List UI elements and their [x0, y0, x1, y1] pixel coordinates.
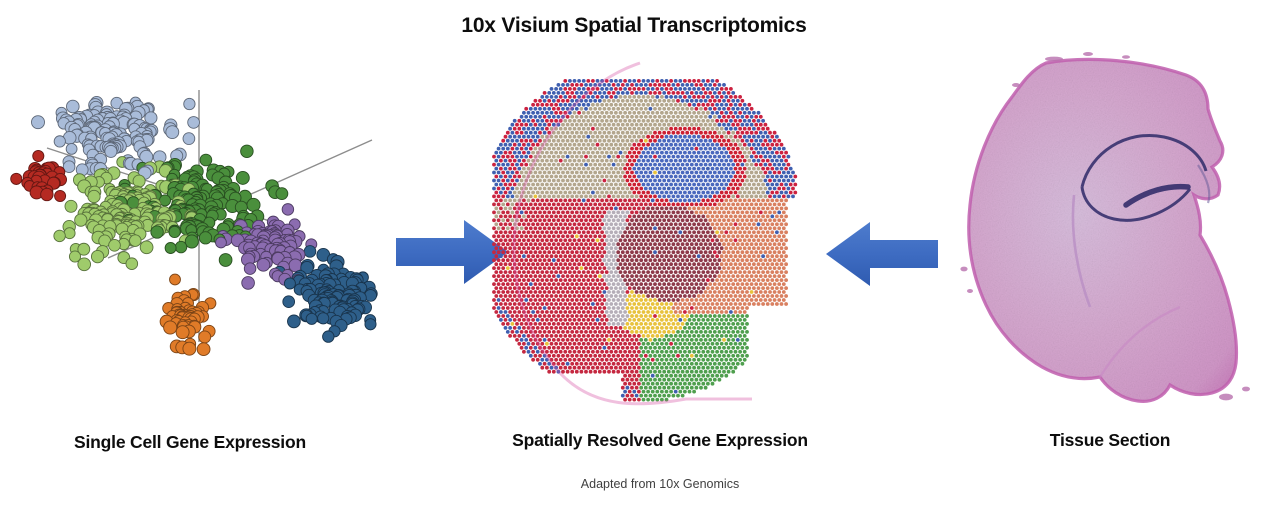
visium-spot [741, 338, 745, 342]
visium-spot [612, 218, 616, 222]
visium-spot [614, 366, 618, 370]
visium-spot [747, 111, 751, 115]
visium-spot [543, 242, 547, 246]
visium-spot [550, 95, 554, 99]
visium-spot [609, 302, 613, 306]
visium-spot [600, 143, 604, 147]
visium-spot [649, 314, 653, 318]
visium-spot [589, 83, 593, 87]
visium-spot [660, 294, 664, 298]
visium-spot [646, 350, 650, 354]
visium-spot [550, 254, 554, 258]
visium-spot [612, 266, 616, 270]
visium-spot [538, 163, 542, 167]
visium-spot [757, 215, 761, 219]
visium-spot [580, 314, 584, 318]
scatter-point [66, 143, 77, 154]
visium-spot [662, 234, 666, 238]
visium-spot [609, 350, 613, 354]
visium-spot [711, 111, 715, 115]
visium-spot [662, 155, 666, 159]
visium-spot [598, 203, 602, 207]
visium-spot [747, 278, 751, 282]
visium-spot [584, 171, 588, 175]
visium-spot [773, 139, 777, 143]
visium-spot [660, 207, 664, 211]
visium-spot [554, 191, 558, 195]
visium-spot [499, 183, 503, 187]
visium-spot [603, 187, 607, 191]
visium-spot [637, 286, 641, 290]
visium-spot [524, 115, 528, 119]
visium-spot [566, 147, 570, 151]
visium-spot [582, 310, 586, 314]
visium-spot [612, 211, 616, 215]
visium-spot [586, 159, 590, 163]
visium-spot [777, 203, 781, 207]
visium-spot [536, 175, 540, 179]
visium-spot [591, 222, 595, 226]
visium-spot [745, 346, 749, 350]
visium-spot [752, 127, 756, 131]
visium-spot [759, 131, 763, 135]
visium-spot [706, 278, 710, 282]
visium-spot [593, 115, 597, 119]
visium-spot [651, 326, 655, 330]
visium-spot [711, 302, 715, 306]
visium-spot [628, 222, 632, 226]
visium-spot [570, 91, 574, 95]
visium-spot [520, 163, 524, 167]
visium-spot [586, 143, 590, 147]
visium-spot [635, 290, 639, 294]
visium-spot [667, 362, 671, 366]
visium-spot [704, 362, 708, 366]
visium-spot [690, 282, 694, 286]
visium-spot [628, 262, 632, 266]
visium-spot [497, 298, 501, 302]
visium-spot [540, 334, 544, 338]
visium-spot [570, 234, 574, 238]
visium-spot [699, 99, 703, 103]
visium-spot [683, 262, 687, 266]
visium-spot [754, 115, 758, 119]
visium-spot [619, 183, 623, 187]
visium-spot [536, 270, 540, 274]
visium-spot [683, 183, 687, 187]
visium-spot [695, 274, 699, 278]
visium-spot [674, 326, 678, 330]
visium-spot [536, 215, 540, 219]
visium-spot [685, 346, 689, 350]
visium-spot [557, 362, 561, 366]
visium-spot [734, 222, 738, 226]
visium-spot [573, 238, 577, 242]
visium-spot [720, 95, 724, 99]
visium-spot [612, 131, 616, 135]
visium-spot [695, 330, 699, 334]
visium-spot [573, 222, 577, 226]
visium-spot [745, 218, 749, 222]
visium-spot [754, 211, 758, 215]
visium-spot [603, 91, 607, 95]
visium-spot [688, 151, 692, 155]
visium-spot [773, 234, 777, 238]
visium-spot [559, 191, 563, 195]
visium-spot [494, 183, 498, 187]
visium-spot [570, 362, 574, 366]
visium-spot [637, 350, 641, 354]
visium-spot [743, 151, 747, 155]
visium-spot [672, 123, 676, 127]
visium-spot [731, 250, 735, 254]
visium-spot [626, 330, 630, 334]
visium-spot [667, 155, 671, 159]
visium-spot [745, 282, 749, 286]
visium-spot [506, 322, 510, 326]
visium-spot [667, 330, 671, 334]
visium-spot [600, 207, 604, 211]
spot-grid-group [492, 63, 797, 404]
visium-spot [697, 222, 701, 226]
visium-spot [573, 278, 577, 282]
visium-spot [784, 238, 788, 242]
visium-spot [678, 294, 682, 298]
visium-spot [492, 218, 496, 222]
visium-spot [637, 278, 641, 282]
visium-spot [609, 215, 613, 219]
visium-spot [736, 195, 740, 199]
visium-spot [715, 310, 719, 314]
visium-spot [651, 79, 655, 83]
visium-spot [752, 246, 756, 250]
visium-spot [699, 155, 703, 159]
visium-spot [536, 254, 540, 258]
visium-spot [761, 135, 765, 139]
visium-spot [529, 147, 533, 151]
visium-spot [644, 203, 648, 207]
visium-spot [766, 175, 770, 179]
visium-spot [745, 242, 749, 246]
visium-spot [513, 326, 517, 330]
visium-spot [591, 230, 595, 234]
visium-spot [568, 183, 572, 187]
visium-spot [672, 195, 676, 199]
visium-spot [609, 358, 613, 362]
visium-spot [552, 99, 556, 103]
visium-spot [736, 155, 740, 159]
visium-spot [511, 330, 515, 334]
visium-spot [761, 230, 765, 234]
visium-spot [531, 127, 535, 131]
visium-spot [775, 135, 779, 139]
visium-spot [598, 322, 602, 326]
visium-spot [690, 171, 694, 175]
visium-spot [561, 290, 565, 294]
visium-spot [543, 91, 547, 95]
visium-spot [559, 310, 563, 314]
visium-spot [639, 346, 643, 350]
visium-spot [644, 274, 648, 278]
visium-spot [605, 286, 609, 290]
visium-spot [600, 366, 604, 370]
visium-spot [570, 131, 574, 135]
visium-spot [662, 338, 666, 342]
visium-spot [616, 163, 620, 167]
visium-spot [734, 334, 738, 338]
visium-spot [711, 310, 715, 314]
visium-spot [651, 167, 655, 171]
visium-spot [736, 163, 740, 167]
visium-spot [504, 270, 508, 274]
visium-spot [688, 119, 692, 123]
visium-spot [699, 290, 703, 294]
visium-spot [563, 95, 567, 99]
visium-spot [573, 294, 577, 298]
visium-spot [770, 207, 774, 211]
visium-spot [734, 111, 738, 115]
visium-spot [534, 282, 538, 286]
visium-spot [752, 159, 756, 163]
visium-spot [628, 159, 632, 163]
visium-spot [660, 87, 664, 91]
visium-spot [768, 163, 772, 167]
visium-spot [593, 338, 597, 342]
visium-spot [557, 266, 561, 270]
visium-spot [520, 115, 524, 119]
visium-spot [655, 318, 659, 322]
visium-spot [708, 242, 712, 246]
visium-spot [697, 238, 701, 242]
visium-spot [720, 191, 724, 195]
visium-spot [609, 191, 613, 195]
visium-spot [520, 338, 524, 342]
visium-spot [685, 234, 689, 238]
visium-spot [752, 222, 756, 226]
visium-spot [536, 103, 540, 107]
visium-spot [591, 262, 595, 266]
visium-spot [573, 246, 577, 250]
visium-spot [649, 362, 653, 366]
visium-spot [506, 155, 510, 159]
visium-spot [570, 211, 574, 215]
visium-spot [609, 119, 613, 123]
visium-spot [626, 203, 630, 207]
visium-spot [724, 286, 728, 290]
visium-spot [665, 222, 669, 226]
visium-spot [559, 111, 563, 115]
visium-spot [591, 326, 595, 330]
visium-spot [504, 175, 508, 179]
visium-spot [718, 218, 722, 222]
visium-spot [517, 175, 521, 179]
visium-spot [729, 159, 733, 163]
visium-spot [580, 91, 584, 95]
visium-spot [508, 167, 512, 171]
visium-spot [651, 222, 655, 226]
visium-spot [607, 107, 611, 111]
visium-spot [713, 282, 717, 286]
visium-spot [715, 270, 719, 274]
visium-spot [630, 171, 634, 175]
visium-spot [598, 91, 602, 95]
visium-spot [734, 95, 738, 99]
visium-spot [665, 167, 669, 171]
visium-spot [575, 266, 579, 270]
visium-spot [612, 322, 616, 326]
visium-spot [540, 159, 544, 163]
visium-spot [715, 127, 719, 131]
visium-spot [736, 322, 740, 326]
scatter-point [176, 326, 189, 339]
visium-spot [635, 242, 639, 246]
visium-spot [575, 163, 579, 167]
visium-spot [754, 147, 758, 151]
visium-spot [609, 238, 613, 242]
visium-spot [508, 159, 512, 163]
visium-spot [568, 230, 572, 234]
visium-spot [540, 278, 544, 282]
visium-spot [690, 354, 694, 358]
visium-spot [662, 218, 666, 222]
visium-spot [676, 211, 680, 215]
visium-spot [727, 107, 731, 111]
visium-spot [793, 183, 797, 187]
visium-spot [734, 326, 738, 330]
visium-spot [782, 171, 786, 175]
visium-spot [517, 135, 521, 139]
visium-spot [706, 254, 710, 258]
visium-spot [754, 203, 758, 207]
visium-spot [646, 366, 650, 370]
visium-spot [557, 282, 561, 286]
visium-spot [662, 115, 666, 119]
visium-spot [718, 250, 722, 254]
visium-spot [513, 175, 517, 179]
visium-spot [626, 155, 630, 159]
visium-spot [672, 163, 676, 167]
visium-spot [759, 282, 763, 286]
visium-spot [688, 246, 692, 250]
visium-spot [667, 131, 671, 135]
visium-spot [632, 230, 636, 234]
visium-spot [508, 270, 512, 274]
visium-spot [662, 242, 666, 246]
visium-spot [534, 258, 538, 262]
visium-spot [704, 298, 708, 302]
visium-spot [619, 334, 623, 338]
visium-spot [563, 151, 567, 155]
visium-spot [517, 230, 521, 234]
visium-spot [713, 234, 717, 238]
visium-spot [520, 218, 524, 222]
visium-spot [708, 322, 712, 326]
visium-spot [669, 207, 673, 211]
visium-spot [580, 139, 584, 143]
visium-spot [538, 171, 542, 175]
visium-spot [529, 123, 533, 127]
visium-spot [658, 322, 662, 326]
visium-spot [547, 187, 551, 191]
visium-spot [492, 179, 496, 183]
visium-spot [545, 318, 549, 322]
visium-spot [718, 266, 722, 270]
visium-spot [598, 155, 602, 159]
visium-spot [639, 187, 643, 191]
visium-spot [545, 222, 549, 226]
visium-spot [750, 211, 754, 215]
visium-spot [619, 358, 623, 362]
visium-spot [591, 135, 595, 139]
visium-spot [660, 230, 664, 234]
visium-spot [557, 115, 561, 119]
visium-spot [642, 95, 646, 99]
visium-spot [607, 203, 611, 207]
visium-spot [566, 195, 570, 199]
visium-spot [573, 183, 577, 187]
visium-spot [736, 354, 740, 358]
visium-spot [561, 322, 565, 326]
visium-spot [506, 242, 510, 246]
visium-spot [718, 187, 722, 191]
visium-spot [619, 302, 623, 306]
visium-spot [701, 358, 705, 362]
visium-spot [563, 230, 567, 234]
visium-spot [589, 282, 593, 286]
visium-spot [612, 115, 616, 119]
visium-spot [508, 183, 512, 187]
visium-spot [692, 310, 696, 314]
visium-spot [676, 147, 680, 151]
visium-spot [563, 318, 567, 322]
visium-spot [582, 119, 586, 123]
visium-spot [727, 203, 731, 207]
visium-spot [566, 242, 570, 246]
visium-spot [506, 250, 510, 254]
visium-spot [787, 187, 791, 191]
visium-spot [568, 215, 572, 219]
visium-spot [697, 103, 701, 107]
visium-spot [759, 187, 763, 191]
visium-spot [782, 274, 786, 278]
visium-spot [524, 282, 528, 286]
visium-spot [570, 179, 574, 183]
visium-spot [662, 282, 666, 286]
visium-spot [757, 302, 761, 306]
visium-spot [644, 163, 648, 167]
visium-spot [534, 211, 538, 215]
visium-spot [630, 91, 634, 95]
visium-spot [655, 111, 659, 115]
visium-spot [515, 250, 519, 254]
visium-spot [667, 298, 671, 302]
visium-spot [642, 183, 646, 187]
visium-spot [623, 127, 627, 131]
visium-spot [743, 254, 747, 258]
visium-spot [718, 274, 722, 278]
visium-spot [722, 218, 726, 222]
visium-spot [517, 167, 521, 171]
visium-spot [511, 131, 515, 135]
visium-spot [715, 135, 719, 139]
visium-spot [780, 238, 784, 242]
visium-spot [738, 286, 742, 290]
visium-spot [586, 238, 590, 242]
visium-spot [598, 250, 602, 254]
visium-spot [787, 155, 791, 159]
visium-spot [697, 79, 701, 83]
visium-spot [768, 171, 772, 175]
